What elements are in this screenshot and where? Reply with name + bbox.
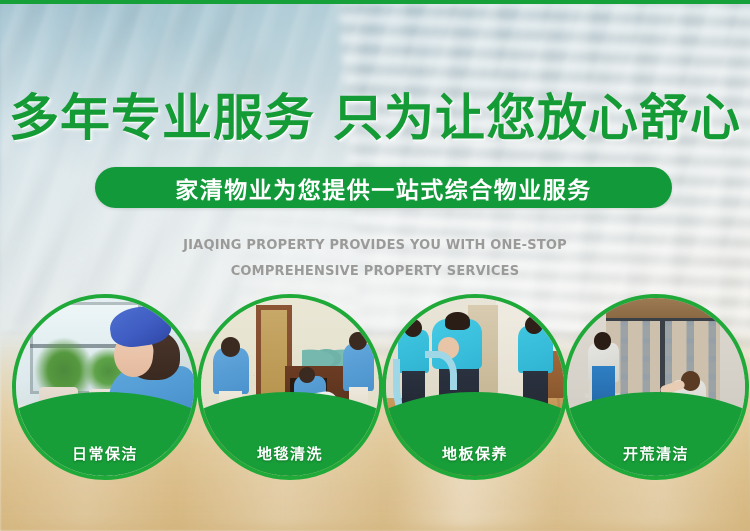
- service-label-move-in-cleaning: 开荒清洁: [567, 443, 745, 464]
- english-subtitle-line-2: COMPREHENSIVE PROPERTY SERVICES: [0, 259, 750, 285]
- service-label-floor-maintenance: 地板保养: [386, 443, 564, 464]
- headline-part-1: 多年专业服务: [9, 89, 315, 147]
- service-photo-ring-2: 地毯清洗: [197, 294, 383, 480]
- service-photo-ring-4: 开荒清洁: [563, 294, 749, 480]
- service-item-daily-cleaning[interactable]: 日常保洁: [12, 294, 198, 480]
- service-item-floor-maintenance[interactable]: 地板保养: [382, 294, 568, 480]
- promotional-banner: 多年专业服务只为让您放心舒心 家清物业为您提供一站式综合物业服务 JIAQING…: [0, 0, 750, 531]
- tagline-pill: 家清物业为您提供一站式综合物业服务: [95, 167, 672, 208]
- service-photo-ring-1: 日常保洁: [12, 294, 198, 480]
- service-item-carpet-washing[interactable]: 地毯清洗: [197, 294, 383, 480]
- english-subtitle-line-1: JIAQING PROPERTY PROVIDES YOU WITH ONE-S…: [0, 233, 750, 259]
- headline: 多年专业服务只为让您放心舒心: [0, 78, 750, 150]
- top-accent-stripe: [0, 0, 750, 4]
- service-photo-ring-3: 地板保养: [382, 294, 568, 480]
- headline-part-2: 只为让您放心舒心: [333, 89, 741, 147]
- tagline-pill-text: 家清物业为您提供一站式综合物业服务: [175, 171, 592, 205]
- service-circles-row: 日常保洁: [0, 294, 750, 484]
- service-label-daily-cleaning: 日常保洁: [16, 443, 194, 464]
- service-label-carpet-washing: 地毯清洗: [201, 443, 379, 464]
- english-subtitle: JIAQING PROPERTY PROVIDES YOU WITH ONE-S…: [0, 233, 750, 285]
- service-item-move-in-cleaning[interactable]: 开荒清洁: [563, 294, 749, 480]
